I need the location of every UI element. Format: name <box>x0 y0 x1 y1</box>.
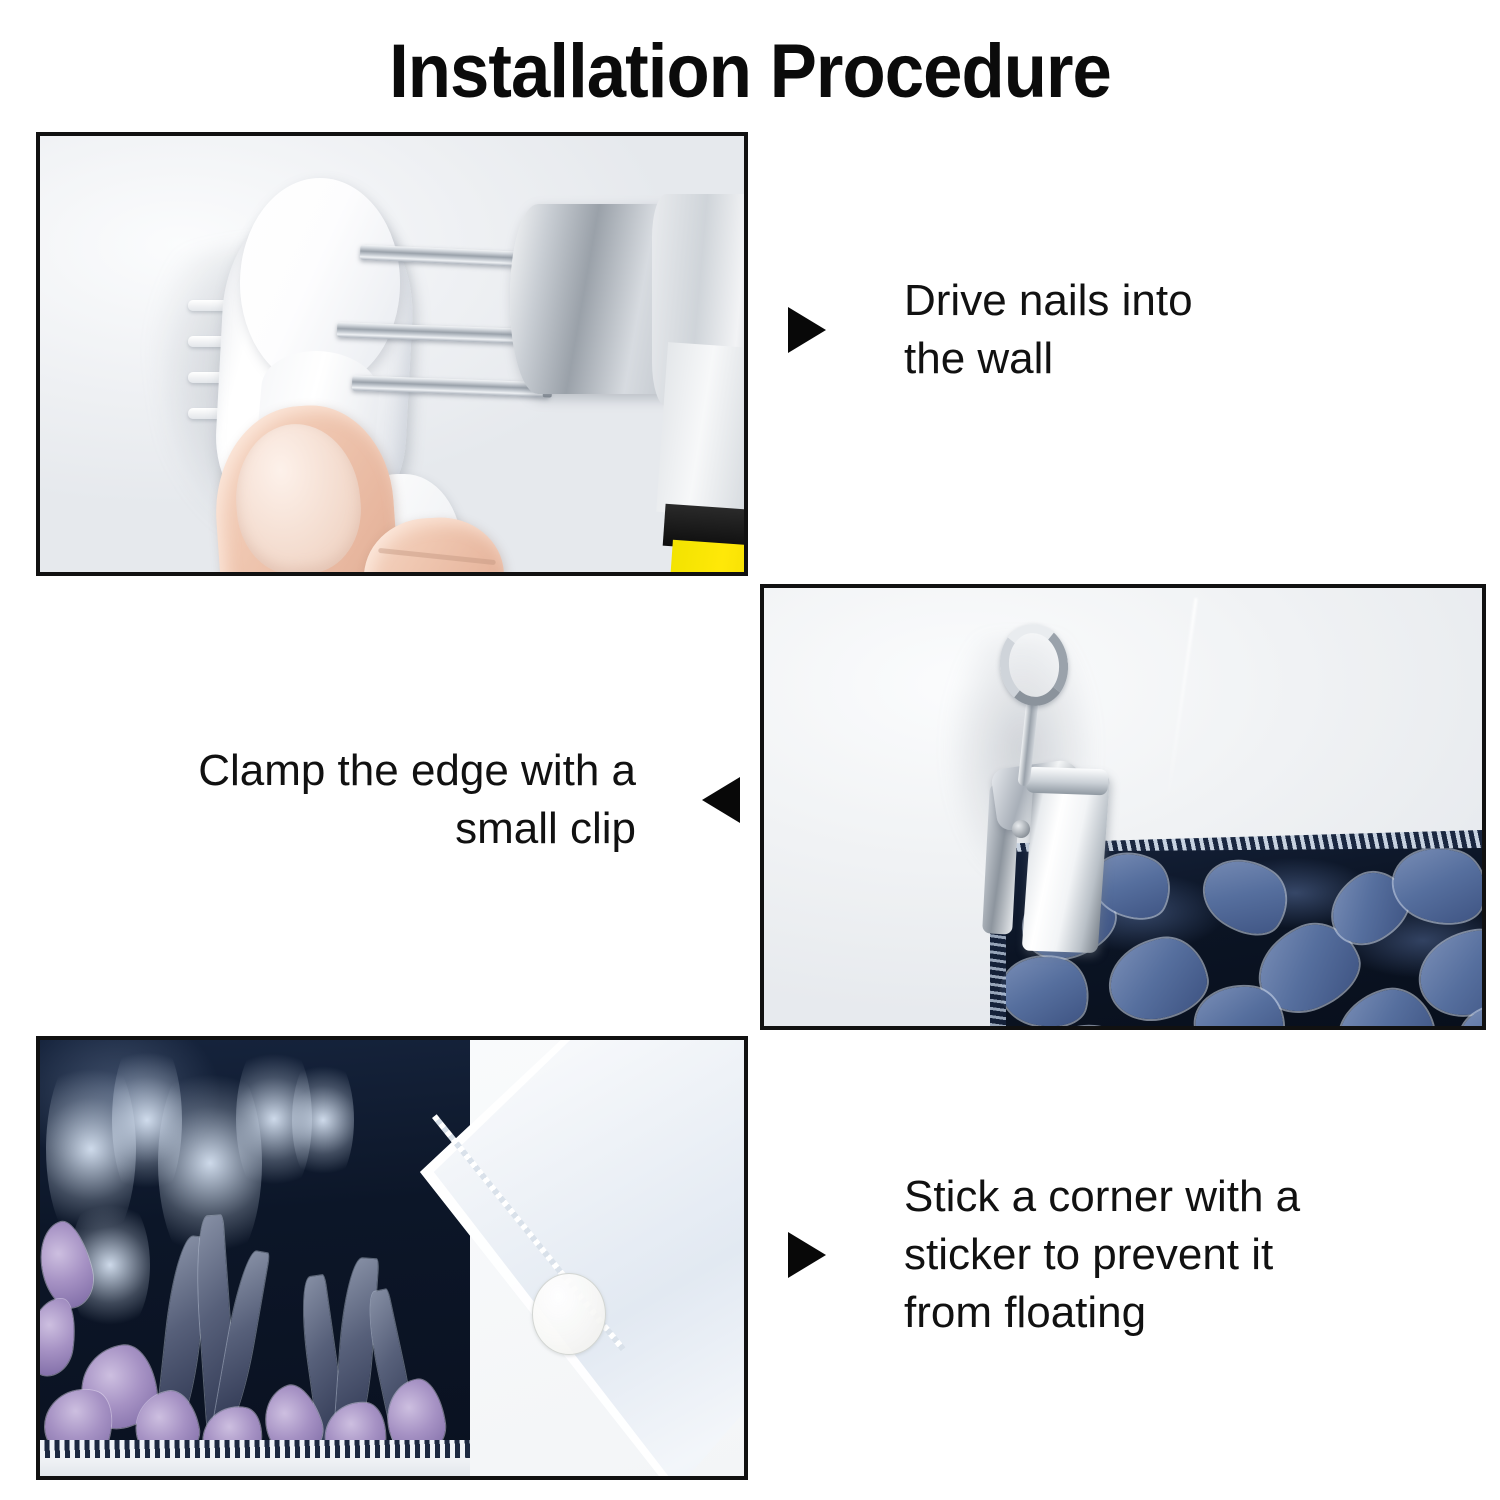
panel-1-photo-content <box>40 136 744 572</box>
drive-nails-photo <box>36 132 748 576</box>
tapestry-hem-backing <box>40 1456 470 1476</box>
step-1-caption: Drive nails into the wall <box>904 272 1193 388</box>
page-title: Installation Procedure <box>53 28 1448 115</box>
triangle-left-icon <box>702 777 740 823</box>
step-1-caption-row: Drive nails into the wall <box>788 272 1428 388</box>
tapestry-front-face <box>40 1040 470 1480</box>
step-3-caption-row: Stick a corner with a sticker to prevent… <box>788 1168 1448 1342</box>
hammer-shaft <box>656 342 748 520</box>
step-3-caption: Stick a corner with a sticker to prevent… <box>904 1168 1300 1342</box>
clip-jaw-lip <box>1026 767 1109 796</box>
finger-crease <box>382 572 490 576</box>
clamp-clip-photo <box>760 584 1486 1030</box>
triangle-right-icon <box>788 1232 826 1278</box>
sticker-corner-photo <box>36 1036 748 1480</box>
tapestry-stitched-hem <box>40 1440 470 1458</box>
hammer-grip <box>667 540 748 576</box>
panel-2-photo-content <box>764 588 1482 1026</box>
triangle-right-icon <box>788 307 826 353</box>
step-2-caption-row: Clamp the edge with a small clip <box>90 742 740 858</box>
clip-pivot-rivet <box>1012 820 1030 838</box>
installation-infographic: Installation Procedure <box>0 0 1500 1500</box>
clip-jaw <box>1022 769 1111 953</box>
step-2-caption: Clamp the edge with a small clip <box>198 742 636 858</box>
panel-3-photo-content <box>40 1040 744 1476</box>
adhesive-sticker-icon <box>532 1273 606 1355</box>
